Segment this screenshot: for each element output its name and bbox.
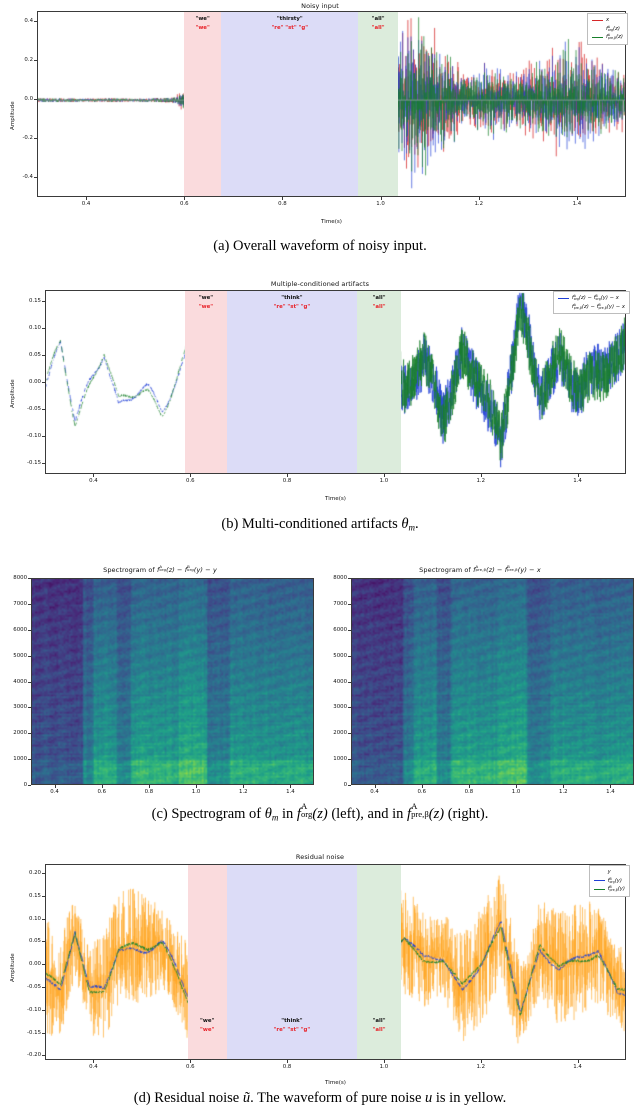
y-tick-label: 4000: [315, 679, 347, 685]
x-tickmark: [563, 785, 564, 788]
x-tick-label: 0.4: [366, 789, 384, 795]
y-tick-label: 0.4: [1, 18, 33, 24]
x-tickmark: [375, 785, 376, 788]
panel-d-ylabel: Amplitude: [10, 953, 16, 982]
x-tick-label: 1.4: [601, 789, 619, 795]
caption-c-text: (c) Spectrogram of θm in fAorgorg(z) (le…: [152, 806, 489, 822]
y-tick-label: -0.05: [9, 984, 41, 990]
panel-d-title: Residual noise: [0, 853, 640, 861]
x-tickmark: [190, 474, 191, 477]
legend-item-artifact-pre: fApre,βpre,β(z) − fBpre,βpre,β(y) − x: [558, 303, 625, 312]
y-tick-label: 0.0: [1, 96, 33, 102]
y-tick-label: -0.15: [9, 1030, 41, 1036]
x-tick-label: 1.0: [372, 201, 390, 207]
y-tick-label: -0.2: [1, 135, 33, 141]
x-tickmark: [86, 197, 87, 200]
y-tick-label: 3000: [315, 704, 347, 710]
y-tick-label: 1000: [315, 756, 347, 762]
x-tickmark: [243, 785, 244, 788]
panel-d-xlabel: Time(s): [45, 1080, 626, 1086]
x-tick-label: 1.4: [569, 478, 587, 484]
y-tickmark: [348, 604, 351, 605]
panel-a-xlabel: Time(s): [37, 219, 626, 225]
panel-a: Noisy input Amplitude "we""we""thirsty""…: [0, 0, 640, 232]
legend-swatch-blue: [592, 28, 603, 29]
x-tickmark: [196, 785, 197, 788]
panel-c-right: Spectrogram of fApre,βpre,β(z) − fBpre,β…: [320, 560, 640, 800]
y-tick-label: 7000: [0, 601, 27, 607]
y-tickmark: [42, 355, 45, 356]
y-tickmark: [34, 21, 37, 22]
panel-d: Residual noise Amplitude "we""we""think"…: [0, 852, 640, 1087]
x-tickmark: [149, 785, 150, 788]
x-tickmark: [93, 474, 94, 477]
band-word-red: "we": [188, 1027, 227, 1033]
y-tickmark: [42, 873, 45, 874]
y-tick-label: 6000: [315, 627, 347, 633]
y-tickmark: [348, 785, 351, 786]
y-tick-label: -0.10: [9, 433, 41, 439]
band-word-red: "re" "st" "g": [221, 25, 358, 31]
band-word-dark: "think": [227, 1018, 358, 1024]
caption-c: (c) Spectrogram of θm in fAorgorg(z) (le…: [0, 806, 640, 823]
x-tickmark: [190, 1060, 191, 1063]
y-tick-label: -0.10: [9, 1007, 41, 1013]
band-word-red: "we": [184, 25, 221, 31]
annotation-band: [358, 12, 397, 196]
y-tick-label: 0.15: [9, 893, 41, 899]
y-tick-label: 0.10: [9, 325, 41, 331]
y-tickmark: [348, 578, 351, 579]
x-tick-label: 0.6: [181, 478, 199, 484]
band-word-dark: "all": [357, 1018, 401, 1024]
annotation-band: [357, 291, 401, 473]
panel-b-title: Multiple-conditioned artifacts: [0, 280, 640, 288]
y-tickmark: [42, 964, 45, 965]
x-tickmark: [184, 197, 185, 200]
x-tickmark: [287, 1060, 288, 1063]
legend-label-fpreB: fBpre,βpre,β(y): [608, 885, 625, 894]
figure-root: Noisy input Amplitude "we""we""thirsty""…: [0, 0, 640, 1117]
band-word-dark: "all": [358, 16, 397, 22]
x-tickmark: [287, 474, 288, 477]
y-tick-label: 1000: [0, 756, 27, 762]
x-tickmark: [481, 474, 482, 477]
panel-a-ylabel: Amplitude: [10, 101, 16, 130]
x-tick-label: 0.6: [93, 789, 111, 795]
y-tick-label: -0.05: [9, 406, 41, 412]
x-tick-label: 1.4: [568, 201, 586, 207]
x-tick-label: 1.0: [187, 789, 205, 795]
legend-label-fpre: fApre,βpre,β(z): [606, 33, 623, 42]
x-tickmark: [93, 1060, 94, 1063]
band-word-dark: "thirsty": [221, 16, 358, 22]
y-tick-label: 0.05: [9, 352, 41, 358]
y-tick-label: 0: [315, 782, 347, 788]
annotation-band: [227, 291, 358, 473]
y-tickmark: [28, 682, 31, 683]
y-tick-label: 0.20: [9, 870, 41, 876]
x-tick-label: 1.2: [472, 478, 490, 484]
x-tick-label: 0.6: [175, 201, 193, 207]
x-tick-label: 1.2: [234, 789, 252, 795]
band-word-red: "all": [357, 304, 401, 310]
y-tick-label: 6000: [0, 627, 27, 633]
y-tick-label: 0.00: [9, 961, 41, 967]
panel-b: Multiple-conditioned artifacts Amplitude…: [0, 278, 640, 510]
y-tickmark: [28, 759, 31, 760]
y-tickmark: [28, 707, 31, 708]
y-tickmark: [348, 682, 351, 683]
y-tick-label: 7000: [315, 601, 347, 607]
y-tick-label: -0.20: [9, 1052, 41, 1058]
y-tickmark: [28, 604, 31, 605]
legend-item-fpre: fApre,βpre,β(z): [592, 33, 623, 42]
y-tick-label: 0.05: [9, 938, 41, 944]
y-tickmark: [42, 382, 45, 383]
x-tick-label: 1.4: [569, 1064, 587, 1070]
y-tickmark: [348, 733, 351, 734]
x-tickmark: [282, 197, 283, 200]
y-tickmark: [42, 1055, 45, 1056]
y-tick-label: -0.15: [9, 460, 41, 466]
y-tickmark: [28, 656, 31, 657]
y-tick-label: 8000: [0, 575, 27, 581]
x-tickmark: [578, 474, 579, 477]
legend-item-artifact-org: fAorgorg(z) − fBorgorg(y) − x: [558, 294, 625, 303]
legend-swatch-green: [558, 306, 569, 307]
x-tickmark: [577, 197, 578, 200]
band-word-red: "re" "st" "g": [227, 304, 358, 310]
x-tick-label: 0.6: [181, 1064, 199, 1070]
x-tick-label: 0.8: [278, 1064, 296, 1070]
x-tick-label: 0.8: [273, 201, 291, 207]
panel-c-right-title: Spectrogram of fApre,βpre,β(z) − fBpre,β…: [320, 566, 640, 574]
x-tickmark: [610, 785, 611, 788]
x-tick-label: 1.2: [472, 1064, 490, 1070]
x-tickmark: [479, 197, 480, 200]
annotation-band: [221, 12, 358, 196]
y-tickmark: [348, 707, 351, 708]
y-tick-label: 2000: [0, 730, 27, 736]
caption-a: (a) Overall waveform of noisy input.: [0, 238, 640, 255]
y-tickmark: [34, 60, 37, 61]
panel-b-legend: fAorgorg(z) − fBorgorg(y) − x fApre,βpre…: [553, 291, 630, 314]
x-tick-label: 0.4: [84, 1064, 102, 1070]
legend-label-artifact-pre: fApre,βpre,β(z) − fBpre,βpre,β(y) − x: [572, 303, 625, 312]
legend-swatch-green: [592, 37, 603, 38]
panel-c-left-title: Spectrogram of fAorgorg(z) − fBorgorg(y)…: [0, 566, 320, 574]
band-word-dark: "we": [185, 295, 226, 301]
y-tickmark: [42, 1010, 45, 1011]
x-tick-label: 1.4: [281, 789, 299, 795]
caption-b-text: (b) Multi-conditioned artifacts θm.: [221, 516, 418, 532]
x-tick-label: 0.8: [460, 789, 478, 795]
annotation-band: [184, 12, 221, 196]
x-tickmark: [578, 1060, 579, 1063]
y-tickmark: [42, 409, 45, 410]
y-tick-label: 0.15: [9, 298, 41, 304]
panel-c-left: Spectrogram of fAorgorg(z) − fBorgorg(y)…: [0, 560, 320, 800]
x-tick-label: 0.8: [278, 478, 296, 484]
x-tick-label: 0.6: [413, 789, 431, 795]
x-tickmark: [384, 474, 385, 477]
y-tickmark: [34, 99, 37, 100]
x-tickmark: [55, 785, 56, 788]
legend-swatch-blue: [558, 298, 569, 299]
y-tickmark: [42, 436, 45, 437]
y-tickmark: [42, 941, 45, 942]
band-word-red: "all": [358, 25, 397, 31]
band-word-dark: "think": [227, 295, 358, 301]
y-tick-label: 0.2: [1, 57, 33, 63]
band-word-red: "re" "st" "g": [227, 1027, 358, 1033]
y-tickmark: [348, 656, 351, 657]
x-tick-label: 1.0: [375, 478, 393, 484]
y-tickmark: [28, 578, 31, 579]
x-tick-label: 0.4: [46, 789, 64, 795]
y-tickmark: [42, 301, 45, 302]
band-word-red: "all": [357, 1027, 401, 1033]
y-tickmark: [348, 759, 351, 760]
legend-label-artifact-org: fAorgorg(z) − fBorgorg(y) − x: [572, 294, 619, 303]
y-tickmark: [42, 896, 45, 897]
y-tick-label: 4000: [0, 679, 27, 685]
x-tick-label: 0.4: [77, 201, 95, 207]
y-tick-label: -0.4: [1, 174, 33, 180]
x-tickmark: [481, 1060, 482, 1063]
panel-d-legend: y fBorgorg(y) fBpre,βpre,β(y): [589, 865, 630, 897]
band-word-dark: "we": [188, 1018, 227, 1024]
y-tick-label: 8000: [315, 575, 347, 581]
y-tick-label: 2000: [315, 730, 347, 736]
y-tickmark: [28, 733, 31, 734]
x-tick-label: 1.0: [507, 789, 525, 795]
y-tick-label: 5000: [0, 653, 27, 659]
y-tickmark: [42, 328, 45, 329]
legend-swatch-blue: [594, 880, 605, 881]
legend-item-fpreB: fBpre,βpre,β(y): [594, 885, 625, 894]
x-tick-label: 1.0: [375, 1064, 393, 1070]
y-tickmark: [34, 138, 37, 139]
caption-b: (b) Multi-conditioned artifacts θm.: [0, 516, 640, 533]
y-tickmark: [42, 919, 45, 920]
caption-d: (d) Residual noise ũ. The waveform of pu…: [0, 1090, 640, 1107]
legend-swatch-red: [592, 20, 603, 21]
band-word-dark: "all": [357, 295, 401, 301]
x-tickmark: [102, 785, 103, 788]
x-tick-label: 0.8: [140, 789, 158, 795]
x-tickmark: [516, 785, 517, 788]
legend-swatch-orange: [594, 872, 605, 873]
panel-b-xlabel: Time(s): [45, 496, 626, 502]
x-tickmark: [290, 785, 291, 788]
annotation-band: [185, 291, 226, 473]
band-word-dark: "we": [184, 16, 221, 22]
y-tick-label: 0.00: [9, 379, 41, 385]
x-tickmark: [384, 1060, 385, 1063]
x-tickmark: [422, 785, 423, 788]
y-tickmark: [28, 630, 31, 631]
panel-a-legend: x fAorgorg(z) fApre,βpre,β(z): [587, 13, 628, 45]
x-tickmark: [469, 785, 470, 788]
panel-c-right-axes: [351, 578, 634, 785]
x-tick-label: 1.2: [470, 201, 488, 207]
y-tick-label: 3000: [0, 704, 27, 710]
panel-a-title: Noisy input: [0, 2, 640, 10]
x-tick-label: 1.2: [554, 789, 572, 795]
y-tick-label: 5000: [315, 653, 347, 659]
y-tickmark: [42, 1033, 45, 1034]
caption-d-text: (d) Residual noise ũ. The waveform of pu…: [134, 1090, 507, 1106]
y-tickmark: [348, 630, 351, 631]
x-tick-label: 0.4: [84, 478, 102, 484]
y-tickmark: [42, 987, 45, 988]
legend-swatch-green: [594, 889, 605, 890]
y-tick-label: 0.10: [9, 916, 41, 922]
y-tickmark: [28, 785, 31, 786]
y-tick-label: 0: [0, 782, 27, 788]
x-tickmark: [381, 197, 382, 200]
y-tickmark: [34, 177, 37, 178]
band-word-red: "we": [185, 304, 226, 310]
panel-c-left-axes: [31, 578, 314, 785]
y-tickmark: [42, 463, 45, 464]
